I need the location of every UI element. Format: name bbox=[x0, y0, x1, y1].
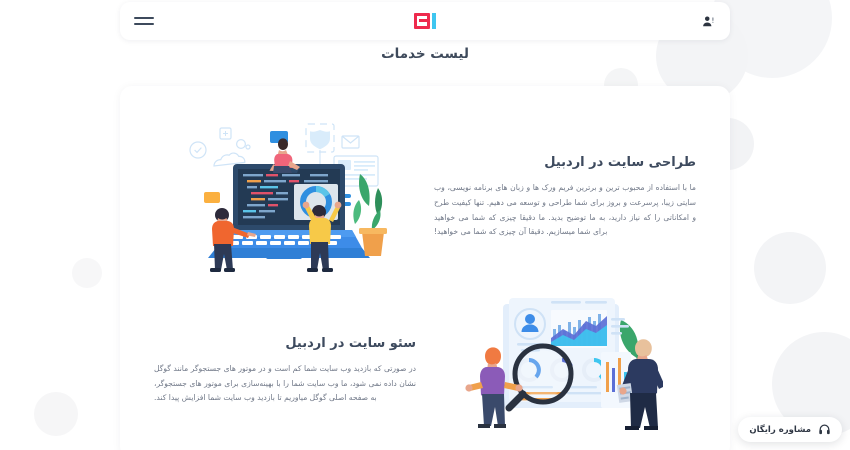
header-right-group bbox=[134, 17, 154, 25]
service-row: طراحی سایت در اردبیل ما با استفاده از مح… bbox=[120, 100, 730, 295]
background-decor-circle bbox=[34, 392, 78, 436]
service-illustration bbox=[416, 296, 710, 446]
background-decor-circle bbox=[712, 0, 832, 78]
logo-bar-shape bbox=[419, 19, 430, 22]
service-row: سئو سایت در اردبیل در صورتی که بازدید وب… bbox=[120, 291, 730, 450]
background-decor-circle bbox=[72, 258, 102, 288]
hamburger-bar bbox=[134, 17, 154, 19]
site-header bbox=[120, 2, 730, 40]
service-text-block: سئو سایت در اردبیل در صورتی که بازدید وب… bbox=[154, 336, 416, 406]
services-card: طراحی سایت در اردبیل ما با استفاده از مح… bbox=[120, 86, 730, 450]
headset-icon bbox=[818, 423, 831, 436]
service-text-block: طراحی سایت در اردبیل ما با استفاده از مح… bbox=[434, 155, 696, 240]
background-decor-circle bbox=[754, 232, 826, 304]
service-title: طراحی سایت در اردبیل bbox=[434, 155, 696, 170]
hamburger-menu-icon[interactable] bbox=[134, 17, 154, 25]
logo-accent-shape bbox=[432, 13, 436, 29]
header-left-group bbox=[701, 14, 716, 29]
chat-widget-label: مشاوره رایگان bbox=[749, 425, 811, 435]
seo-analytics-magnifier-illustration bbox=[463, 296, 663, 446]
laptop-coding-team-illustration bbox=[182, 114, 392, 282]
service-illustration bbox=[140, 114, 434, 282]
hamburger-bar bbox=[134, 23, 154, 25]
free-consultation-chat-button[interactable]: مشاوره رایگان bbox=[738, 417, 842, 442]
service-title: سئو سایت در اردبیل bbox=[154, 336, 416, 351]
service-description: در صورتی که بازدید وب سایت شما کم است و … bbox=[154, 362, 416, 406]
header-center-group bbox=[120, 13, 730, 29]
site-logo[interactable] bbox=[414, 13, 436, 29]
person-icon[interactable] bbox=[701, 14, 716, 29]
page-title: لیست خدمات bbox=[120, 46, 730, 62]
service-description: ما با استفاده از محبوب ترین و برترین فری… bbox=[434, 181, 696, 240]
page-root: لیست خدمات طراحی سایت در اردبیل ما با اس… bbox=[0, 0, 850, 450]
